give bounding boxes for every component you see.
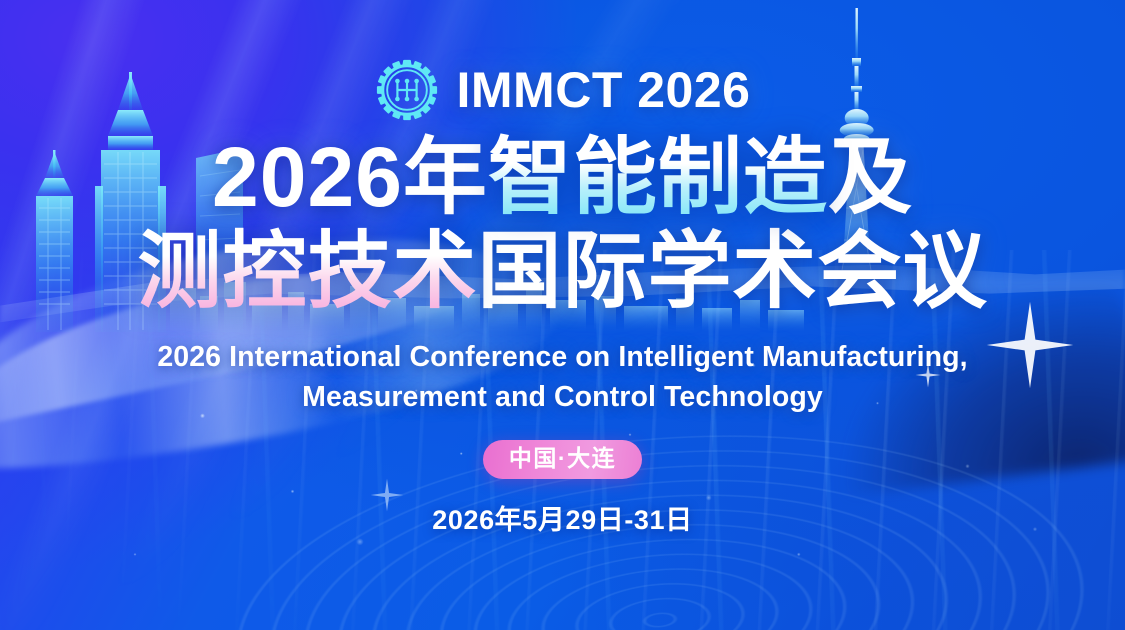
gear-circuit-icon xyxy=(375,58,439,122)
title-cn-seg-conf: 国际学术会议 xyxy=(478,224,988,318)
title-cn-line-2: 测控技术国际学术会议 xyxy=(137,229,987,313)
subtitle-en-line-1: 2026 International Conference on Intelli… xyxy=(157,337,967,377)
subtitle-en-line-2: Measurement and Control Technology xyxy=(157,377,967,417)
conference-subtitle-en: 2026 International Conference on Intelli… xyxy=(157,337,967,418)
conference-acronym: IMMCT 2026 xyxy=(457,65,751,115)
logo-lockup: IMMCT 2026 xyxy=(375,57,751,123)
conference-banner: IMMCT 2026 2026年智能制造及 测控技术国际学术会议 2026 In… xyxy=(0,0,1125,630)
title-cn-seg-and: 及 xyxy=(828,130,913,224)
title-cn-seg-smart: 智能制造 xyxy=(488,130,828,224)
banner-content: IMMCT 2026 2026年智能制造及 测控技术国际学术会议 2026 In… xyxy=(0,0,1125,630)
title-cn-seg-measure: 测控技术 xyxy=(137,224,477,318)
location-badge: 中国·大连 xyxy=(483,440,642,479)
conference-title-cn: 2026年智能制造及 测控技术国际学术会议 xyxy=(137,135,987,313)
title-cn-line-1: 2026年智能制造及 xyxy=(137,135,987,219)
conference-date: 2026年5月29日-31日 xyxy=(432,498,693,537)
title-cn-seg-year: 2026年 xyxy=(212,130,488,224)
